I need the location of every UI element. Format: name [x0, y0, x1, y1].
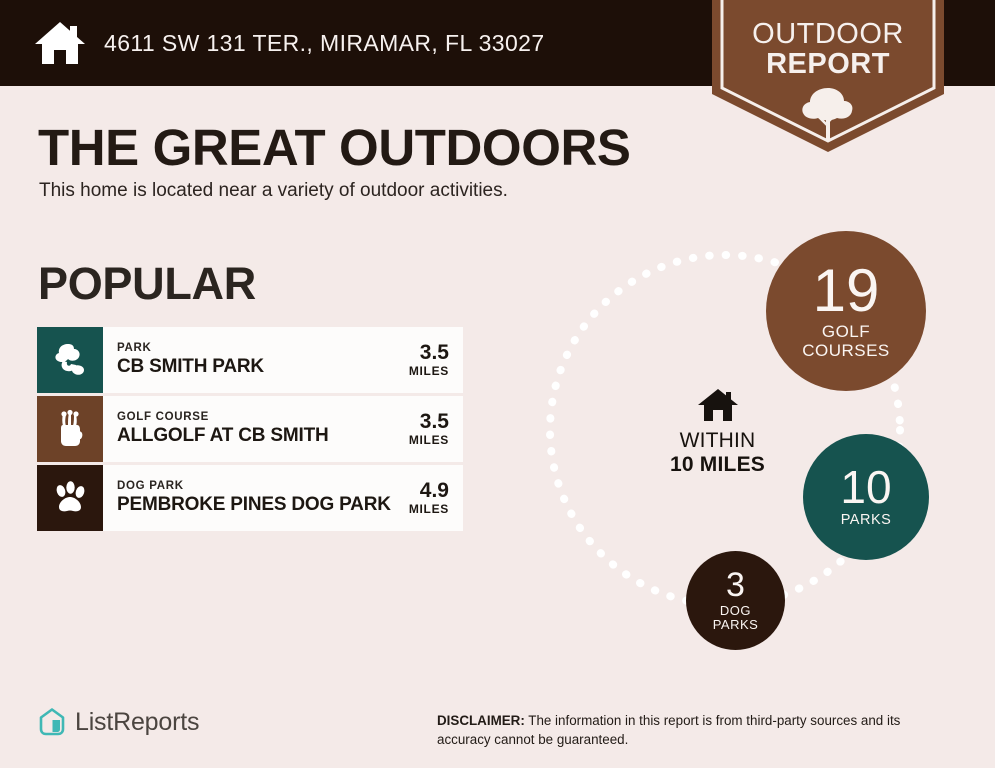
listreports-logo-text: ListReports	[75, 708, 199, 737]
list-item[interactable]: DOG PARK PEMBROKE PINES DOG PARK 4.9 MIL…	[37, 465, 463, 531]
center-line-2: 10 MILES	[650, 453, 785, 477]
distance-value: 3.5	[391, 411, 449, 434]
bubble-label: DOG PARKS	[713, 604, 759, 632]
list-item-distance: 4.9 MILES	[391, 480, 453, 516]
list-item-name: ALLGOLF AT CB SMITH	[117, 425, 391, 448]
house-icon	[697, 387, 739, 423]
property-address: 4611 SW 131 TER., MIRAMAR, FL 33027	[104, 30, 545, 57]
outdoor-report-infographic: 4611 SW 131 TER., MIRAMAR, FL 33027 OUTD…	[0, 0, 995, 768]
list-item-category: GOLF COURSE	[117, 410, 391, 424]
list-item-body: DOG PARK PEMBROKE PINES DOG PARK 4.9 MIL…	[103, 465, 463, 531]
bubble-value: 3	[726, 569, 745, 601]
stat-bubble-parks[interactable]: 10 PARKS	[803, 434, 929, 560]
bubble-value: 10	[840, 466, 891, 510]
bubble-label: PARKS	[841, 513, 892, 529]
bubble-label: GOLF COURSES	[802, 323, 890, 360]
diagram-center-label: WITHIN 10 MILES	[650, 387, 785, 476]
distance-unit: MILES	[391, 365, 449, 378]
listreports-logo[interactable]: ListReports	[38, 707, 199, 737]
bubble-label-line-2: COURSES	[802, 342, 890, 360]
center-line-1: WITHIN	[650, 429, 785, 453]
list-item-name: CB SMITH PARK	[117, 356, 391, 379]
popular-list: PARK CB SMITH PARK 3.5 MILES	[37, 327, 463, 534]
list-item-body: PARK CB SMITH PARK 3.5 MILES	[103, 327, 463, 393]
list-item-name: PEMBROKE PINES DOG PARK	[117, 494, 391, 517]
golf-bag-icon	[37, 396, 103, 462]
park-tree-icon	[37, 327, 103, 393]
bubble-label-line-1: PARKS	[841, 513, 892, 529]
popular-section-title: POPULAR	[38, 258, 256, 310]
house-icon	[34, 20, 86, 66]
list-item-category: PARK	[117, 341, 391, 355]
list-item-category: DOG PARK	[117, 479, 391, 493]
within-10-miles-diagram: WITHIN 10 MILES 19 GOLF COURSES 10 PARKS…	[520, 215, 980, 675]
disclaimer-label: DISCLAIMER:	[437, 713, 525, 728]
list-item-body: GOLF COURSE ALLGOLF AT CB SMITH 3.5 MILE…	[103, 396, 463, 462]
list-item-distance: 3.5 MILES	[391, 342, 453, 378]
distance-value: 4.9	[391, 480, 449, 503]
page-subtitle: This home is located near a variety of o…	[39, 180, 508, 202]
bubble-label-line-2: PARKS	[713, 618, 759, 632]
disclaimer: DISCLAIMER: The information in this repo…	[437, 711, 955, 750]
header-address-group: 4611 SW 131 TER., MIRAMAR, FL 33027	[34, 0, 545, 86]
stat-bubble-golf-courses[interactable]: 19 GOLF COURSES	[766, 231, 926, 391]
list-item-distance: 3.5 MILES	[391, 411, 453, 447]
distance-unit: MILES	[391, 434, 449, 447]
page-title: THE GREAT OUTDOORS	[38, 118, 631, 177]
list-item[interactable]: PARK CB SMITH PARK 3.5 MILES	[37, 327, 463, 393]
paw-print-icon	[37, 465, 103, 531]
bubble-label-line-1: GOLF	[802, 323, 890, 341]
bubble-label-line-1: DOG	[713, 604, 759, 618]
outdoor-report-badge: OUTDOOR REPORT	[712, 0, 944, 152]
distance-value: 3.5	[391, 342, 449, 365]
distance-unit: MILES	[391, 503, 449, 516]
bubble-value: 19	[813, 262, 880, 319]
stat-bubble-dog-parks[interactable]: 3 DOG PARKS	[686, 551, 785, 650]
list-item[interactable]: GOLF COURSE ALLGOLF AT CB SMITH 3.5 MILE…	[37, 396, 463, 462]
listreports-house-logo-icon	[38, 707, 66, 737]
